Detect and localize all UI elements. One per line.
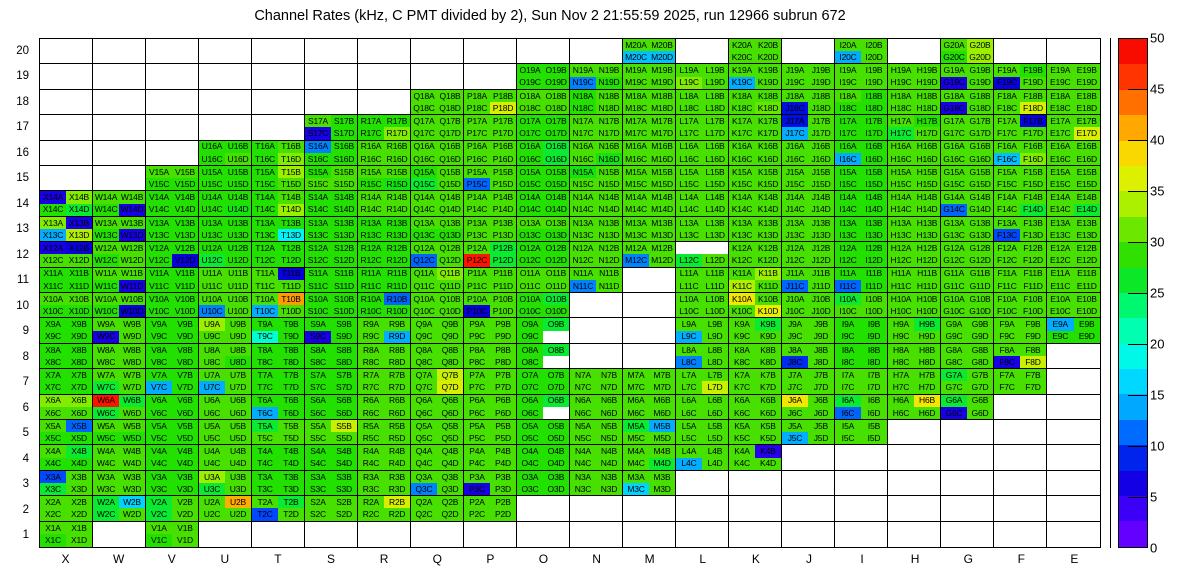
channel-U17B[interactable] xyxy=(225,115,251,127)
channel-R15D[interactable]: R15D xyxy=(384,178,410,190)
channel-K3C[interactable] xyxy=(729,483,755,495)
channel-V19B[interactable] xyxy=(172,64,198,76)
channel-P8A[interactable]: P8A xyxy=(464,344,490,356)
heatmap-cell-V7[interactable]: V7AV7BV7CV7D xyxy=(146,369,199,394)
channel-U13C[interactable]: U13C xyxy=(199,229,225,241)
channel-T15A[interactable]: T15A xyxy=(252,166,278,178)
channel-M5C[interactable]: M5C xyxy=(623,432,649,444)
channel-M18C[interactable]: M18C xyxy=(623,102,649,114)
channel-M11A[interactable] xyxy=(623,268,649,280)
channel-I4B[interactable] xyxy=(861,445,887,457)
channel-R14A[interactable]: R14A xyxy=(358,191,384,203)
channel-F7C[interactable]: F7C xyxy=(994,381,1020,393)
channel-E12A[interactable]: E12A xyxy=(1047,242,1074,254)
channel-R1B[interactable] xyxy=(384,522,410,535)
channel-P4A[interactable]: P4A xyxy=(464,445,490,457)
channel-M8A[interactable] xyxy=(623,344,649,356)
channel-S15D[interactable]: S15D xyxy=(331,178,357,190)
channel-I9A[interactable]: I9A xyxy=(835,318,861,330)
channel-T3C[interactable]: T3C xyxy=(252,483,278,495)
channel-P18C[interactable]: P18C xyxy=(464,102,490,114)
channel-V12B[interactable]: V12B xyxy=(172,242,198,254)
channel-F9A[interactable]: F9A xyxy=(994,318,1020,330)
channel-O20C[interactable] xyxy=(517,51,543,63)
heatmap-cell-O14[interactable]: O14AO14BO14CO14D xyxy=(517,191,570,216)
channel-J2C[interactable] xyxy=(782,508,808,520)
heatmap-cell-M8[interactable] xyxy=(623,344,676,369)
channel-J5C[interactable]: J5C xyxy=(782,432,808,444)
channel-X13B[interactable]: X13B xyxy=(66,217,92,229)
heatmap-cell-H2[interactable] xyxy=(888,496,941,521)
channel-S18B[interactable] xyxy=(331,90,357,102)
channel-W5B[interactable]: W5B xyxy=(119,420,145,432)
heatmap-cell-I18[interactable]: I18AI18BI18CI18D xyxy=(835,90,888,115)
channel-P20B[interactable] xyxy=(490,39,516,51)
channel-N4B[interactable]: N4B xyxy=(596,445,622,457)
heatmap-cell-G12[interactable]: G12AG12BG12CG12D xyxy=(941,242,994,267)
heatmap-cell-M11[interactable] xyxy=(623,268,676,293)
channel-N12D[interactable]: N12D xyxy=(596,254,622,266)
channel-V3A[interactable]: V3A xyxy=(146,471,172,483)
channel-L19D[interactable]: L19D xyxy=(702,77,728,89)
channel-R12D[interactable]: R12D xyxy=(384,254,410,266)
channel-P17D[interactable]: P17D xyxy=(490,127,516,139)
channel-O19D[interactable]: O19D xyxy=(543,77,569,89)
heatmap-cell-T12[interactable]: T12AT12BT12CT12D xyxy=(252,242,305,267)
channel-R4C[interactable]: R4C xyxy=(358,458,384,470)
channel-E19A[interactable]: E19A xyxy=(1047,64,1074,76)
channel-K8D[interactable]: K8D xyxy=(755,356,781,368)
channel-P2C[interactable]: P2C xyxy=(464,508,490,520)
heatmap-cell-U16[interactable]: U16AU16BU16CU16D xyxy=(199,141,252,166)
channel-F15D[interactable]: F15D xyxy=(1020,178,1046,190)
channel-R20A[interactable] xyxy=(358,39,384,51)
channel-G8D[interactable]: G8D xyxy=(967,356,993,368)
channel-Q5D[interactable]: Q5D xyxy=(437,432,463,444)
channel-E9D[interactable]: E9D xyxy=(1074,331,1101,343)
channel-R17C[interactable]: R17C xyxy=(358,127,384,139)
channel-S17C[interactable]: S17C xyxy=(305,127,331,139)
channel-L4C[interactable]: L4C xyxy=(676,458,702,470)
channel-E1D[interactable] xyxy=(1074,534,1101,547)
channel-U14C[interactable]: U14C xyxy=(199,204,225,216)
channel-N15C[interactable]: N15C xyxy=(570,178,596,190)
heatmap-cell-E10[interactable]: E10AE10BE10CE10D xyxy=(1047,293,1100,318)
heatmap-cell-M7[interactable]: M7AM7BM7CM7D xyxy=(623,369,676,394)
channel-U6C[interactable]: U6C xyxy=(199,407,225,419)
heatmap-cell-R8[interactable]: R8AR8BR8CR8D xyxy=(358,344,411,369)
heatmap-cell-V16[interactable] xyxy=(146,141,199,166)
channel-N14C[interactable]: N14C xyxy=(570,204,596,216)
channel-I7B[interactable]: I7B xyxy=(861,369,887,381)
channel-E7B[interactable] xyxy=(1074,369,1101,381)
channel-G2D[interactable] xyxy=(967,508,993,520)
channel-W14C[interactable]: W14C xyxy=(93,204,119,216)
channel-H15C[interactable]: H15C xyxy=(888,178,914,190)
channel-J10A[interactable]: J10A xyxy=(782,293,808,305)
channel-Q15B[interactable]: Q15B xyxy=(437,166,463,178)
heatmap-cell-W15[interactable] xyxy=(93,166,146,191)
channel-H18C[interactable]: H18C xyxy=(888,102,914,114)
heatmap-cell-J3[interactable] xyxy=(782,471,835,496)
heatmap-cell-W10[interactable]: W10AW10BW10CW10D xyxy=(93,293,146,318)
channel-R20D[interactable] xyxy=(384,51,410,63)
channel-T17D[interactable] xyxy=(278,127,304,139)
channel-P1D[interactable] xyxy=(490,534,516,547)
channel-J17D[interactable]: J17D xyxy=(808,127,834,139)
channel-S8B[interactable]: S8B xyxy=(331,344,357,356)
channel-X16B[interactable] xyxy=(66,141,92,153)
channel-J13A[interactable]: J13A xyxy=(782,217,808,229)
channel-F17D[interactable]: F17D xyxy=(1020,127,1046,139)
channel-L13A[interactable]: L13A xyxy=(676,217,702,229)
channel-R5A[interactable]: R5A xyxy=(358,420,384,432)
channel-S11D[interactable]: S11D xyxy=(331,280,357,292)
channel-E19D[interactable]: E19D xyxy=(1074,77,1101,89)
channel-U11B[interactable]: U11B xyxy=(225,268,251,280)
channel-H11B[interactable]: H11B xyxy=(914,268,940,280)
channel-U9C[interactable]: U9C xyxy=(199,331,225,343)
channel-F3D[interactable] xyxy=(1020,483,1046,495)
channel-W17A[interactable] xyxy=(93,115,119,127)
channel-I10C[interactable]: I10C xyxy=(835,305,861,317)
channel-H12B[interactable]: H12B xyxy=(914,242,940,254)
channel-U12B[interactable]: U12B xyxy=(225,242,251,254)
channel-G3A[interactable] xyxy=(941,471,967,483)
channel-K16B[interactable]: K16B xyxy=(755,141,781,153)
heatmap-cell-H1[interactable] xyxy=(888,522,941,547)
channel-W4D[interactable]: W4D xyxy=(119,458,145,470)
channel-S19A[interactable] xyxy=(305,64,331,76)
channel-Q18C[interactable]: Q18C xyxy=(411,102,437,114)
channel-U10B[interactable]: U10B xyxy=(225,293,251,305)
heatmap-cell-H9[interactable]: H9AH9BH9CH9D xyxy=(888,318,941,343)
heatmap-cell-G8[interactable]: G8AG8BG8CG8D xyxy=(941,344,994,369)
channel-T16C[interactable]: T16C xyxy=(252,153,278,165)
channel-I7D[interactable]: I7D xyxy=(861,381,887,393)
channel-O6B[interactable]: O6B xyxy=(543,395,569,407)
heatmap-cell-N7[interactable]: N7AN7BN7CN7D xyxy=(570,369,623,394)
channel-F20A[interactable] xyxy=(994,39,1020,51)
channel-I1A[interactable] xyxy=(835,522,861,535)
channel-V15B[interactable]: V15B xyxy=(172,166,198,178)
channel-P16A[interactable]: P16A xyxy=(464,141,490,153)
channel-O6C[interactable]: O6C xyxy=(517,407,543,419)
channel-G5C[interactable] xyxy=(941,432,967,444)
heatmap-cell-I14[interactable]: I14AI14BI14CI14D xyxy=(835,191,888,216)
channel-W6D[interactable]: W6D xyxy=(119,407,145,419)
heatmap-cell-K19[interactable]: K19AK19BK19CK19D xyxy=(729,64,782,89)
heatmap-cell-U5[interactable]: U5AU5BU5CU5D xyxy=(199,420,252,445)
channel-M12A[interactable]: M12A xyxy=(623,242,649,254)
heatmap-cell-W18[interactable] xyxy=(93,90,146,115)
channel-Q13A[interactable]: Q13A xyxy=(411,217,437,229)
channel-W12A[interactable]: W12A xyxy=(93,242,119,254)
heatmap-cell-F17[interactable]: F17AF17BF17CF17D xyxy=(994,115,1047,140)
channel-T10B[interactable]: T10B xyxy=(278,293,304,305)
channel-T18C[interactable] xyxy=(252,102,278,114)
channel-E18D[interactable]: E18D xyxy=(1074,102,1101,114)
channel-F12B[interactable]: F12B xyxy=(1020,242,1046,254)
channel-L7C[interactable]: L7C xyxy=(676,381,702,393)
channel-S3A[interactable]: S3A xyxy=(305,471,331,483)
channel-H20B[interactable] xyxy=(914,39,940,51)
channel-H5D[interactable] xyxy=(914,432,940,444)
channel-L13B[interactable]: L13B xyxy=(702,217,728,229)
channel-R7B[interactable]: R7B xyxy=(384,369,410,381)
channel-U14B[interactable]: U14B xyxy=(225,191,251,203)
channel-L18C[interactable]: L18C xyxy=(676,102,702,114)
channel-U20A[interactable] xyxy=(199,39,225,51)
channel-U4A[interactable]: U4A xyxy=(199,445,225,457)
channel-X10B[interactable]: X10B xyxy=(66,293,92,305)
channel-R15B[interactable]: R15B xyxy=(384,166,410,178)
channel-F14B[interactable]: F14B xyxy=(1020,191,1046,203)
heatmap-cell-I10[interactable]: I10AI10BI10CI10D xyxy=(835,293,888,318)
channel-S9D[interactable]: S9D xyxy=(331,331,357,343)
channel-I10D[interactable]: I10D xyxy=(861,305,887,317)
channel-L10B[interactable]: L10B xyxy=(702,293,728,305)
heatmap-cell-S1[interactable] xyxy=(305,522,358,547)
channel-U5D[interactable]: U5D xyxy=(225,432,251,444)
heatmap-cell-X11[interactable]: X11AX11BX11CX11D xyxy=(40,268,93,293)
channel-T6D[interactable]: T6D xyxy=(278,407,304,419)
heatmap-cell-I3[interactable] xyxy=(835,471,888,496)
channel-Q11D[interactable]: Q11D xyxy=(437,280,463,292)
channel-H3A[interactable] xyxy=(888,471,914,483)
channel-E2A[interactable] xyxy=(1047,496,1074,508)
channel-J10C[interactable]: J10C xyxy=(782,305,808,317)
heatmap-cell-H18[interactable]: H18AH18BH18CH18D xyxy=(888,90,941,115)
channel-V12D[interactable]: V12D xyxy=(172,254,198,266)
channel-T11C[interactable]: T11C xyxy=(252,280,278,292)
channel-G2C[interactable] xyxy=(941,508,967,520)
channel-E7C[interactable] xyxy=(1047,381,1074,393)
channel-I7C[interactable]: I7C xyxy=(835,381,861,393)
channel-K15C[interactable]: K15C xyxy=(729,178,755,190)
channel-S15A[interactable]: S15A xyxy=(305,166,331,178)
channel-T11D[interactable]: T11D xyxy=(278,280,304,292)
channel-L2A[interactable] xyxy=(676,496,702,508)
channel-N3B[interactable]: N3B xyxy=(596,471,622,483)
channel-Q10B[interactable]: Q10B xyxy=(437,293,463,305)
channel-S9B[interactable]: S9B xyxy=(331,318,357,330)
channel-F15B[interactable]: F15B xyxy=(1020,166,1046,178)
channel-Q19A[interactable] xyxy=(411,64,437,76)
channel-K20A[interactable]: K20A xyxy=(729,39,755,51)
channel-N17D[interactable]: N17D xyxy=(596,127,622,139)
channel-W14B[interactable]: W14B xyxy=(119,191,145,203)
channel-T3A[interactable]: T3A xyxy=(252,471,278,483)
channel-S16A[interactable]: S16A xyxy=(305,141,331,153)
channel-N10D[interactable] xyxy=(596,305,622,317)
heatmap-cell-E15[interactable]: E15AE15BE15CE15D xyxy=(1047,166,1100,191)
channel-F8A[interactable]: F8A xyxy=(994,344,1020,356)
channel-K4B[interactable]: K4B xyxy=(755,445,781,457)
heatmap-cell-H14[interactable]: H14AH14BH14CH14D xyxy=(888,191,941,216)
channel-J18D[interactable]: J18D xyxy=(808,102,834,114)
channel-V1C[interactable]: V1C xyxy=(146,534,172,547)
heatmap-cell-H11[interactable]: H11AH11BH11CH11D xyxy=(888,268,941,293)
channel-X19A[interactable] xyxy=(40,64,66,76)
channel-M17B[interactable]: M17B xyxy=(649,115,675,127)
channel-W16D[interactable] xyxy=(119,153,145,165)
channel-F16D[interactable]: F16D xyxy=(1020,153,1046,165)
channel-W11D[interactable]: W11D xyxy=(119,280,145,292)
channel-V5A[interactable]: V5A xyxy=(146,420,172,432)
channel-V20A[interactable] xyxy=(146,39,172,51)
channel-J5B[interactable]: J5B xyxy=(808,420,834,432)
heatmap-cell-Q17[interactable]: Q17AQ17BQ17CQ17D xyxy=(411,115,464,140)
channel-F14A[interactable]: F14A xyxy=(994,191,1020,203)
heatmap-cell-G3[interactable] xyxy=(941,471,994,496)
channel-X14C[interactable]: X14C xyxy=(40,204,66,216)
channel-O13D[interactable]: O13D xyxy=(543,229,569,241)
channel-R12B[interactable]: R12B xyxy=(384,242,410,254)
channel-Q7D[interactable]: Q7D xyxy=(437,381,463,393)
heatmap-cell-I6[interactable]: I6AI6BI6CI6D xyxy=(835,395,888,420)
channel-K8C[interactable]: K8C xyxy=(729,356,755,368)
channel-E9A[interactable]: E9A xyxy=(1047,318,1074,330)
heatmap-cell-T2[interactable]: T2AT2BT2CT2D xyxy=(252,496,305,521)
channel-E11B[interactable]: E11B xyxy=(1074,268,1101,280)
channel-W12C[interactable]: W12C xyxy=(93,254,119,266)
channel-R18D[interactable] xyxy=(384,102,410,114)
channel-S11B[interactable]: S11B xyxy=(331,268,357,280)
channel-F11D[interactable]: F11D xyxy=(1020,280,1046,292)
heatmap-cell-N10[interactable] xyxy=(570,293,623,318)
channel-I3C[interactable] xyxy=(835,483,861,495)
channel-J19A[interactable]: J19A xyxy=(782,64,808,76)
channel-V3B[interactable]: V3B xyxy=(172,471,198,483)
channel-S12C[interactable]: S12C xyxy=(305,254,331,266)
channel-H6B[interactable]: H6B xyxy=(914,395,940,407)
heatmap-cell-P1[interactable] xyxy=(464,522,517,547)
channel-G5B[interactable] xyxy=(967,420,993,432)
channel-Q16A[interactable]: Q16A xyxy=(411,141,437,153)
channel-X10D[interactable]: X10D xyxy=(66,305,92,317)
heatmap-cell-L8[interactable]: L8AL8BL8CL8D xyxy=(676,344,729,369)
heatmap-cell-S14[interactable]: S14AS14BS14CS14D xyxy=(305,191,358,216)
heatmap-cell-R1[interactable] xyxy=(358,522,411,547)
channel-E3B[interactable] xyxy=(1074,471,1101,483)
channel-J9A[interactable]: J9A xyxy=(782,318,808,330)
channel-T13D[interactable]: T13D xyxy=(278,229,304,241)
channel-J2B[interactable] xyxy=(808,496,834,508)
heatmap-cell-K2[interactable] xyxy=(729,496,782,521)
heatmap-cell-N5[interactable]: N5AN5BN5CN5D xyxy=(570,420,623,445)
channel-J9B[interactable]: J9B xyxy=(808,318,834,330)
channel-I6A[interactable]: I6A xyxy=(835,395,861,407)
heatmap-cell-N6[interactable]: N6AN6BN6CN6D xyxy=(570,395,623,420)
channel-M5B[interactable]: M5B xyxy=(649,420,675,432)
channel-K12D[interactable]: K12D xyxy=(755,254,781,266)
channel-F2D[interactable] xyxy=(1020,508,1046,520)
channel-H4A[interactable] xyxy=(888,445,914,457)
channel-O15A[interactable]: O15A xyxy=(517,166,543,178)
channel-X5C[interactable]: X5C xyxy=(40,432,66,444)
heatmap-cell-H10[interactable]: H10AH10BH10CH10D xyxy=(888,293,941,318)
channel-G17B[interactable]: G17B xyxy=(967,115,993,127)
channel-V15A[interactable]: V15A xyxy=(146,166,172,178)
heatmap-cell-P9[interactable]: P9AP9BP9CP9D xyxy=(464,318,517,343)
heatmap-cell-Q20[interactable] xyxy=(411,39,464,64)
channel-W18B[interactable] xyxy=(119,90,145,102)
channel-J16B[interactable]: J16B xyxy=(808,141,834,153)
channel-N3A[interactable]: N3A xyxy=(570,471,596,483)
channel-N13A[interactable]: N13A xyxy=(570,217,596,229)
channel-H5A[interactable] xyxy=(888,420,914,432)
heatmap-cell-I1[interactable] xyxy=(835,522,888,547)
channel-U18C[interactable] xyxy=(199,102,225,114)
channel-T8A[interactable]: T8A xyxy=(252,344,278,356)
heatmap-cell-J6[interactable]: J6AJ6BJ6CJ6D xyxy=(782,395,835,420)
heatmap-cell-F2[interactable] xyxy=(994,496,1047,521)
channel-H1D[interactable] xyxy=(914,534,940,547)
channel-V5B[interactable]: V5B xyxy=(172,420,198,432)
heatmap-cell-J14[interactable]: J14AJ14BJ14CJ14D xyxy=(782,191,835,216)
heatmap-cell-E7[interactable] xyxy=(1047,369,1100,394)
channel-O10B[interactable]: O10B xyxy=(543,293,569,305)
channel-N7D[interactable]: N7D xyxy=(596,381,622,393)
channel-W17B[interactable] xyxy=(119,115,145,127)
heatmap-cell-Q7[interactable]: Q7AQ7BQ7CQ7D xyxy=(411,369,464,394)
channel-K17B[interactable]: K17B xyxy=(755,115,781,127)
channel-F10B[interactable]: F10B xyxy=(1020,293,1046,305)
heatmap-cell-M1[interactable] xyxy=(623,522,676,547)
channel-N5A[interactable]: N5A xyxy=(570,420,596,432)
channel-G12C[interactable]: G12C xyxy=(941,254,967,266)
channel-N5C[interactable]: N5C xyxy=(570,432,596,444)
channel-O2C[interactable] xyxy=(517,508,543,520)
channel-X11A[interactable]: X11A xyxy=(40,268,66,280)
channel-M4A[interactable]: M4A xyxy=(623,445,649,457)
channel-E15B[interactable]: E15B xyxy=(1074,166,1101,178)
heatmap-cell-S17[interactable]: S17AS17BS17CS17D xyxy=(305,115,358,140)
channel-F4A[interactable] xyxy=(994,445,1020,457)
heatmap-cell-E8[interactable] xyxy=(1047,344,1100,369)
channel-R6B[interactable]: R6B xyxy=(384,395,410,407)
channel-L8D[interactable]: L8D xyxy=(702,356,728,368)
channel-H16C[interactable]: H16C xyxy=(888,153,914,165)
channel-X6B[interactable]: X6B xyxy=(66,395,92,407)
channel-H3B[interactable] xyxy=(914,471,940,483)
channel-V10A[interactable]: V10A xyxy=(146,293,172,305)
channel-O8C[interactable]: O8C xyxy=(517,356,543,368)
channel-L11C[interactable]: L11C xyxy=(676,280,702,292)
channel-I16C[interactable]: I16C xyxy=(835,153,861,165)
channel-X15D[interactable] xyxy=(66,178,92,190)
channel-P7C[interactable]: P7C xyxy=(464,381,490,393)
channel-G19D[interactable]: G19D xyxy=(967,77,993,89)
heatmap-cell-E17[interactable]: E17AE17BE17CE17D xyxy=(1047,115,1100,140)
heatmap-cell-L17[interactable]: L17AL17BL17CL17D xyxy=(676,115,729,140)
heatmap-cell-X15[interactable] xyxy=(40,166,93,191)
channel-T2B[interactable]: T2B xyxy=(278,496,304,508)
channel-V8B[interactable]: V8B xyxy=(172,344,198,356)
heatmap-cell-L20[interactable] xyxy=(676,39,729,64)
channel-Q15D[interactable]: Q15D xyxy=(437,178,463,190)
channel-P9C[interactable]: P9C xyxy=(464,331,490,343)
channel-V4A[interactable]: V4A xyxy=(146,445,172,457)
channel-M12D[interactable]: M12D xyxy=(649,254,675,266)
channel-V6D[interactable]: V6D xyxy=(172,407,198,419)
channel-J4B[interactable] xyxy=(808,445,834,457)
channel-W5A[interactable]: W5A xyxy=(93,420,119,432)
channel-I14A[interactable]: I14A xyxy=(835,191,861,203)
channel-U7B[interactable]: U7B xyxy=(225,369,251,381)
heatmap-cell-L7[interactable]: L7AL7BL7CL7D xyxy=(676,369,729,394)
